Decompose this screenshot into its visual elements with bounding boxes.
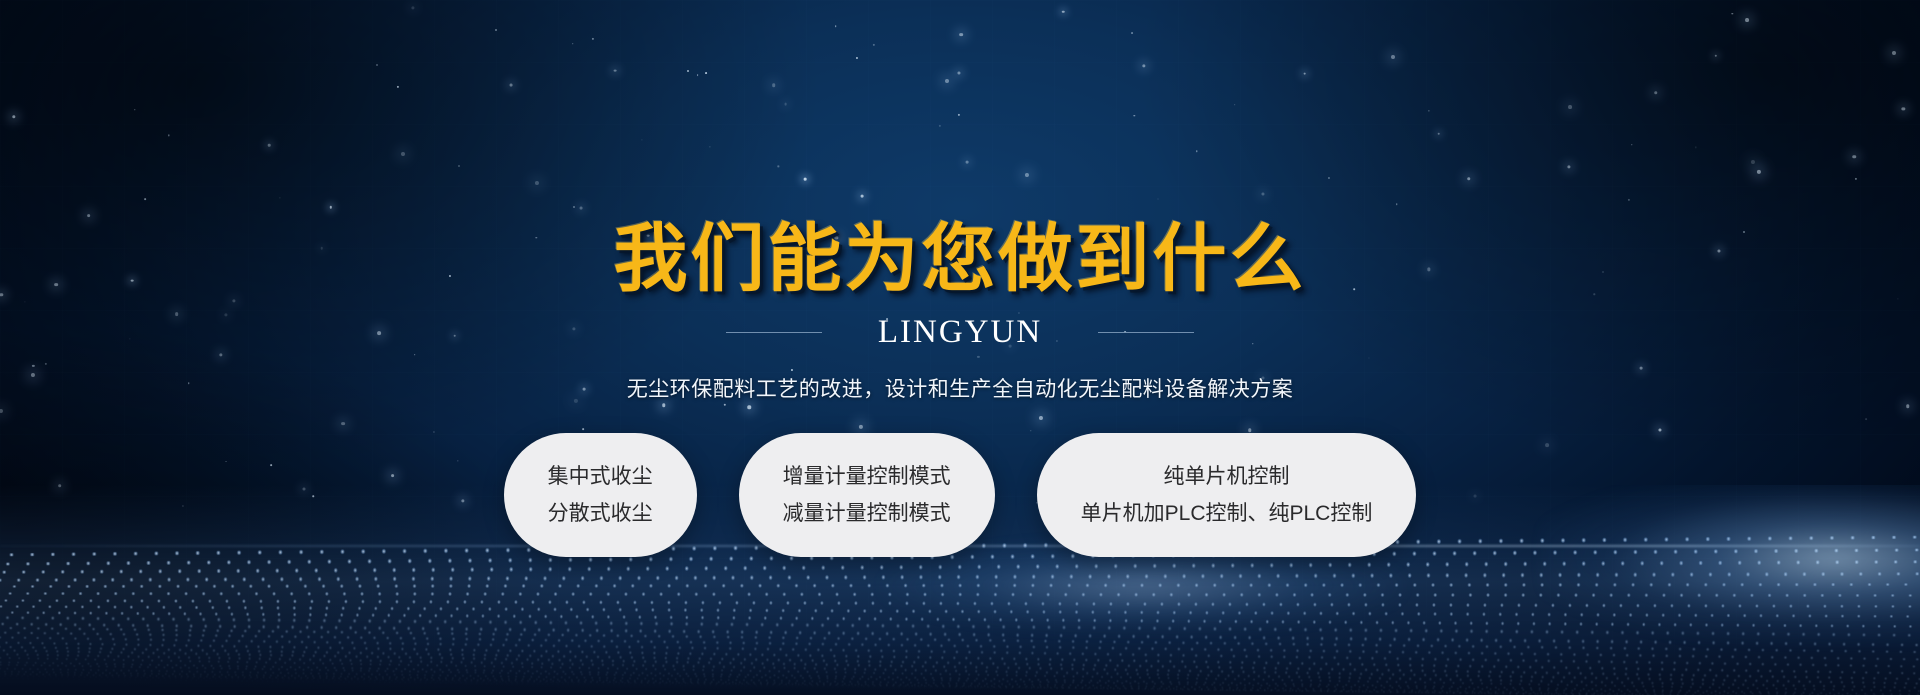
- divider-right: [1098, 332, 1194, 333]
- feature-pill[interactable]: 增量计量控制模式减量计量控制模式: [739, 433, 995, 557]
- tagline: 无尘环保配料工艺的改进，设计和生产全自动化无尘配料设备解决方案: [627, 373, 1294, 403]
- brand-row: LINGYUN: [726, 314, 1194, 351]
- feature-pill-line: 单片机加PLC控制、纯PLC控制: [1081, 503, 1373, 524]
- feature-pill[interactable]: 集中式收尘分散式收尘: [504, 433, 697, 557]
- feature-pill-line: 减量计量控制模式: [783, 503, 951, 524]
- hero-banner: 我们能为您做到什么 LINGYUN 无尘环保配料工艺的改进，设计和生产全自动化无…: [0, 0, 1920, 695]
- page-title: 我们能为您做到什么: [614, 222, 1307, 296]
- divider-left: [726, 332, 822, 333]
- feature-pill-line: 分散式收尘: [548, 503, 653, 524]
- brand-name: LINGYUN: [878, 314, 1042, 351]
- feature-pill[interactable]: 纯单片机控制单片机加PLC控制、纯PLC控制: [1037, 433, 1417, 557]
- feature-pill-row: 集中式收尘分散式收尘增量计量控制模式减量计量控制模式纯单片机控制单片机加PLC控…: [504, 433, 1417, 557]
- feature-pill-line: 增量计量控制模式: [783, 466, 951, 487]
- banner-content: 我们能为您做到什么 LINGYUN 无尘环保配料工艺的改进，设计和生产全自动化无…: [0, 0, 1920, 695]
- feature-pill-line: 纯单片机控制: [1163, 466, 1289, 487]
- feature-pill-line: 集中式收尘: [548, 466, 653, 487]
